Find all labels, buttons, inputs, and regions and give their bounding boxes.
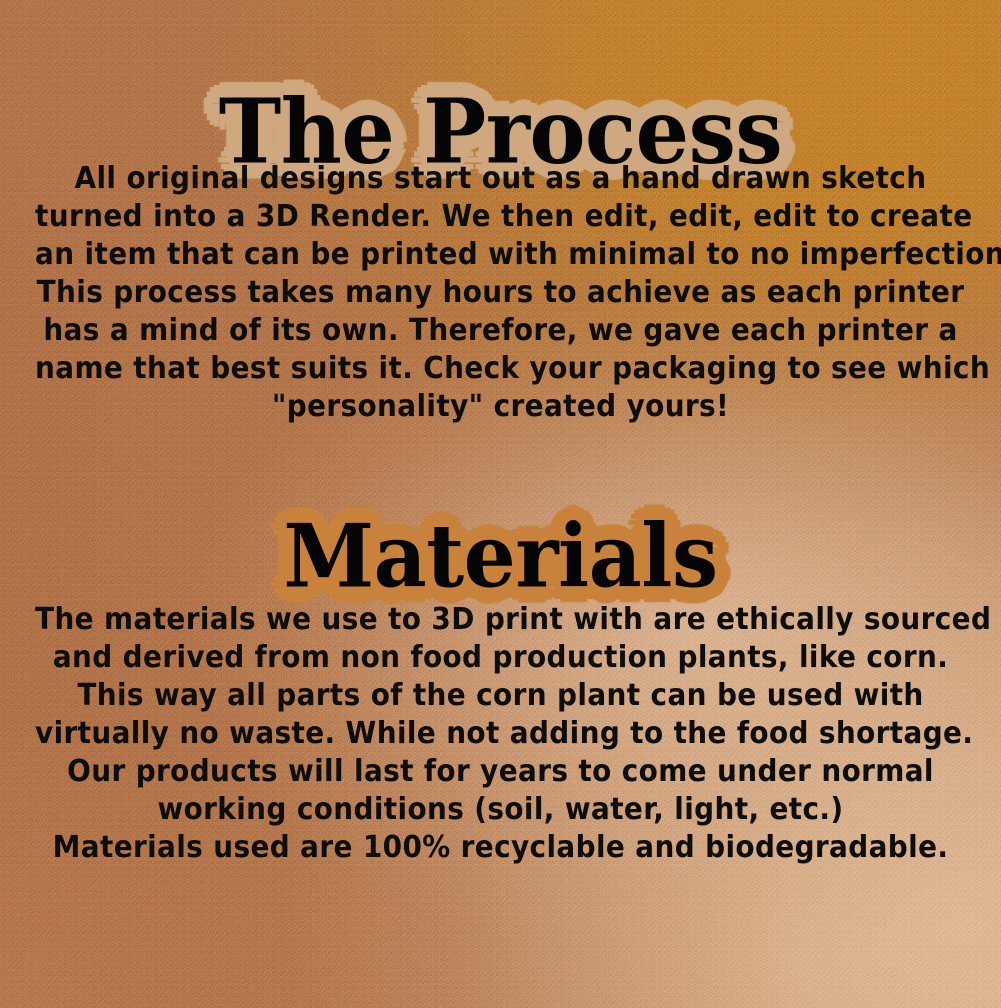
body-line: virtually no waste. While not adding to … <box>35 715 966 753</box>
body-line: This way all parts of the corn plant can… <box>35 677 966 715</box>
body-line: name that best suits it. Check your pack… <box>35 350 966 388</box>
body-line: Our products will last for years to come… <box>35 753 966 791</box>
poster-content: The Process All original designs start o… <box>0 0 1001 1008</box>
body-line: turned into a 3D Render. We then edit, e… <box>35 198 966 236</box>
body-line: Materials used are 100% recyclable and b… <box>35 829 966 867</box>
section-body-materials: The materials we use to 3D print with ar… <box>35 601 966 867</box>
body-line: and derived from non food production pla… <box>35 639 966 677</box>
section-heading-materials: Materials <box>0 513 1001 600</box>
body-line: working conditions (soil, water, light, … <box>35 791 966 829</box>
body-line: has a mind of its own. Therefore, we gav… <box>35 312 966 350</box>
poster-canvas: The Process All original designs start o… <box>0 0 1001 1008</box>
body-line: All original designs start out as a hand… <box>35 160 966 198</box>
body-line: This process takes many hours to achieve… <box>35 274 966 312</box>
body-line: an item that can be printed with minimal… <box>35 236 966 274</box>
body-line: The materials we use to 3D print with ar… <box>35 601 966 639</box>
section-body-process: All original designs start out as a hand… <box>35 160 966 426</box>
body-line: "personality" created yours! <box>35 388 966 426</box>
